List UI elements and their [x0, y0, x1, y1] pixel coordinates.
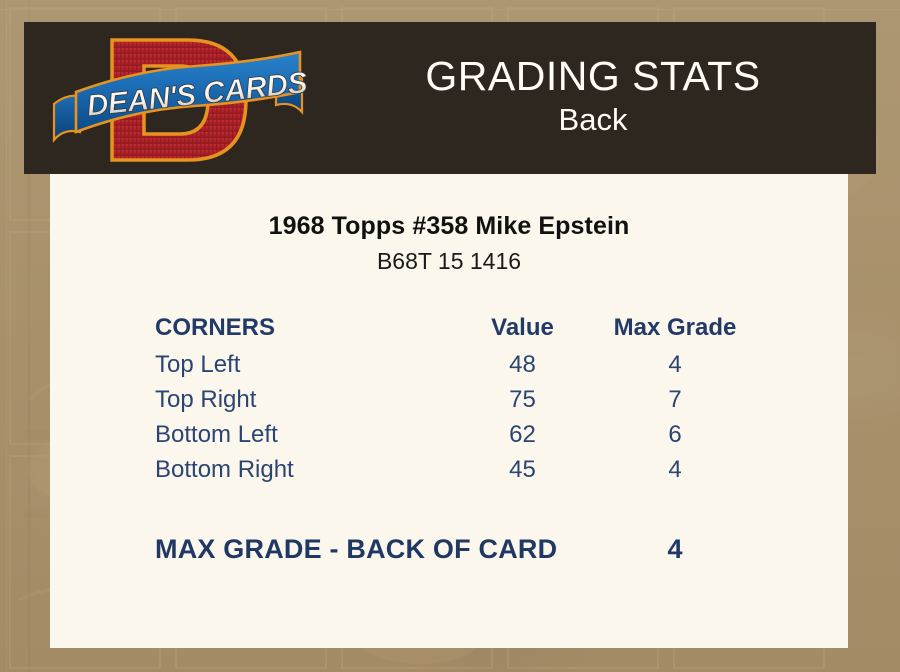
card-id: B68T 15 1416 — [50, 248, 848, 275]
column-header-max-grade: Max Grade — [600, 309, 750, 347]
row-value: 48 — [445, 347, 600, 382]
max-grade-label: MAX GRADE - BACK OF CARD — [155, 534, 600, 565]
header-bar: DEAN'S CARDS GRADING STATS Back — [24, 22, 876, 174]
table-row: Bottom Left 62 6 — [155, 417, 750, 452]
table-row: Top Right 75 7 — [155, 382, 750, 417]
header-title-block: GRADING STATS Back — [310, 22, 876, 174]
table-header: CORNERS Value Max Grade — [155, 309, 750, 347]
row-max-grade: 4 — [600, 452, 750, 487]
row-label: Top Right — [155, 382, 445, 417]
max-grade-value: 4 — [600, 534, 750, 565]
column-header-value: Value — [445, 309, 600, 347]
row-max-grade: 6 — [600, 417, 750, 452]
table-header-row: CORNERS Value Max Grade — [155, 309, 750, 347]
row-value: 75 — [445, 382, 600, 417]
row-value: 45 — [445, 452, 600, 487]
row-max-grade: 4 — [600, 347, 750, 382]
card-title: 1968 Topps #358 Mike Epstein — [50, 212, 848, 241]
row-label: Bottom Left — [155, 417, 445, 452]
corners-stats-table: CORNERS Value Max Grade Top Left 48 4 To… — [155, 309, 750, 487]
deans-cards-logo-icon: DEAN'S CARDS — [48, 30, 310, 170]
table-row: Top Left 48 4 — [155, 347, 750, 382]
deans-cards-logo[interactable]: DEAN'S CARDS — [48, 30, 310, 170]
row-max-grade: 7 — [600, 382, 750, 417]
table-body: Top Left 48 4 Top Right 75 7 Bottom Left… — [155, 347, 750, 487]
column-header-corners: CORNERS — [155, 309, 445, 347]
max-grade-summary: MAX GRADE - BACK OF CARD 4 — [155, 534, 750, 565]
page-root: DEAN'S CARDS GRADING STATS Back 1968 Top… — [0, 0, 900, 672]
page-title: GRADING STATS — [425, 55, 760, 98]
row-value: 62 — [445, 417, 600, 452]
table-row: Bottom Right 45 4 — [155, 452, 750, 487]
content-panel: 1968 Topps #358 Mike Epstein B68T 15 141… — [50, 174, 848, 648]
page-subtitle: Back — [559, 99, 628, 141]
row-label: Bottom Right — [155, 452, 445, 487]
row-label: Top Left — [155, 347, 445, 382]
